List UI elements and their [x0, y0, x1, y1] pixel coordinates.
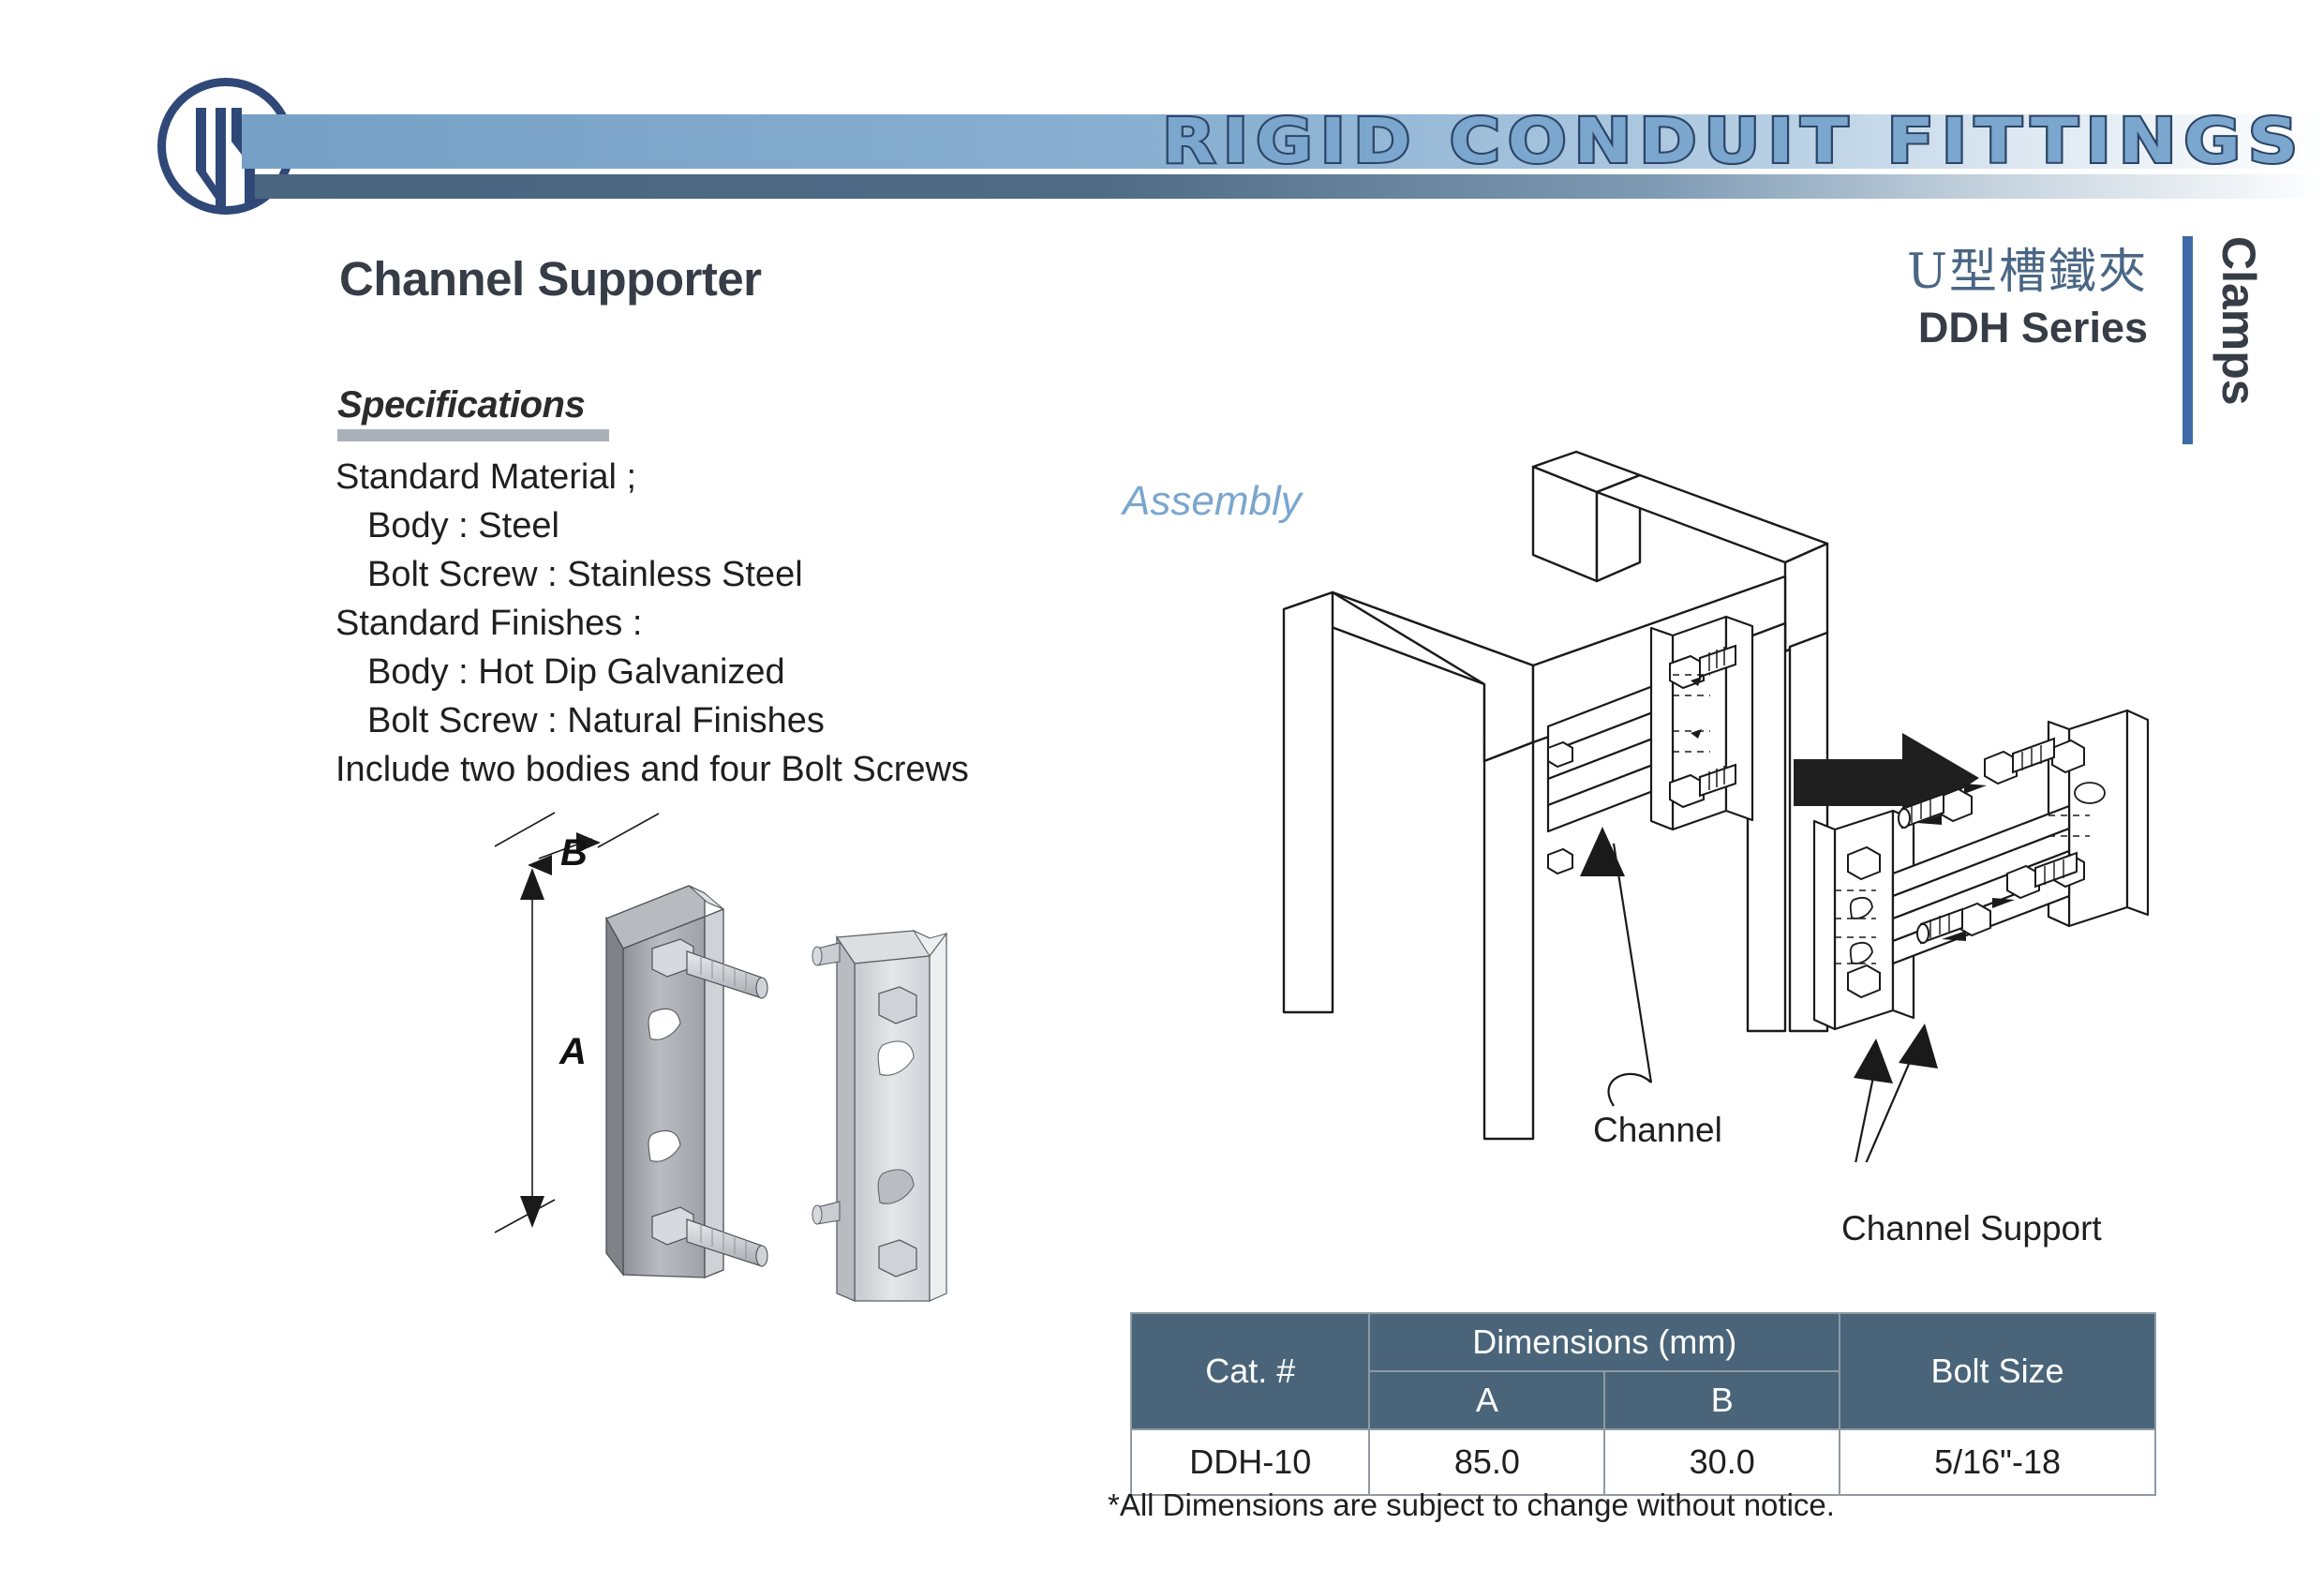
spec-line: Bolt Screw : Stainless Steel: [335, 550, 1085, 599]
specifications-list: Standard Material ; Body : Steel Bolt Sc…: [335, 453, 1085, 794]
spec-line: Standard Material ;: [335, 453, 1085, 501]
table-header-cat: Cat. #: [1131, 1313, 1369, 1429]
specifications-heading: Specifications: [337, 384, 609, 441]
page-title: Channel Supporter: [339, 251, 762, 306]
spec-line: Include two bodies and four Bolt Screws: [335, 745, 1085, 794]
specifications-heading-rule: [337, 429, 609, 441]
series-identity-block: U型槽鐵夾 DDH Series: [1907, 246, 2148, 354]
table-header-row-1: Cat. # Dimensions (mm) Bolt Size: [1131, 1313, 2155, 1371]
table-header-dim-a: A: [1369, 1371, 1604, 1429]
table-cell-bolt-size: 5/16"-18: [1840, 1429, 2155, 1495]
spec-line: Body : Steel: [335, 501, 1085, 550]
table-row: DDH-10 85.0 30.0 5/16"-18: [1131, 1429, 2155, 1495]
table-header-dimensions-group: Dimensions (mm): [1369, 1313, 1840, 1371]
banner-title: RIGID CONDUIT FITTINGS: [353, 101, 2305, 186]
specifications-heading-text: Specifications: [337, 384, 609, 426]
dimension-label-a: A: [559, 1031, 587, 1073]
section-tab-bar: [2182, 236, 2193, 444]
table-cell-cat: DDH-10: [1131, 1429, 1369, 1495]
callout-label-channel-support: Channel Support: [1841, 1209, 2102, 1248]
callout-label-channel: Channel: [1593, 1111, 1722, 1150]
dimension-label-b: B: [560, 832, 588, 874]
page-header: RIGID CONDUIT FITTINGS: [0, 0, 2324, 225]
table-cell-dim-a: 85.0: [1369, 1429, 1604, 1495]
spec-line: Standard Finishes :: [335, 599, 1085, 648]
series-name-english: DDH Series: [1907, 302, 2148, 354]
section-tab-label-text: Clamps: [2212, 236, 2266, 406]
spec-line: Bolt Screw : Natural Finishes: [335, 696, 1085, 745]
table-header-bolt-size: Bolt Size: [1840, 1313, 2155, 1429]
dimensions-table: Cat. # Dimensions (mm) Bolt Size A B DDH…: [1130, 1312, 2156, 1496]
table-cell-dim-b: 30.0: [1604, 1429, 1840, 1495]
table-header-dim-b: B: [1604, 1371, 1840, 1429]
section-tab-label: Clamps: [2212, 236, 2266, 555]
assembly-isometric-drawing: [1246, 450, 2193, 1162]
spec-line: Body : Hot Dip Galvanized: [335, 648, 1085, 696]
series-name-chinese: U型槽鐵夾: [1907, 246, 2148, 300]
table-footnote: *All Dimensions are subject to change wi…: [1108, 1487, 1835, 1523]
